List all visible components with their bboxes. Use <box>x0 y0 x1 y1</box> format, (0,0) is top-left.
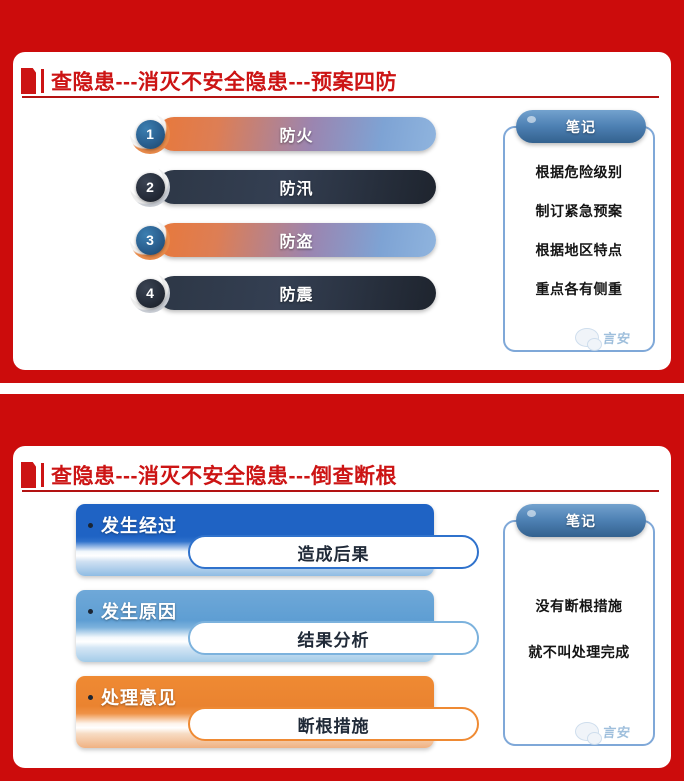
bar-body[interactable]: 防汛 <box>157 170 436 204</box>
group-subbox-label: 造成后果 <box>298 540 370 565</box>
bar-number-badge: 3 <box>130 220 170 260</box>
list-item[interactable]: 发生经过 造成后果 <box>76 504 481 582</box>
title-underline <box>22 490 659 492</box>
wechat-watermark: 言安 <box>575 718 649 744</box>
title-flag-icon <box>21 68 36 94</box>
bar-body[interactable]: 防震 <box>157 276 436 310</box>
page-title: 查隐患---消灭不安全隐患---预案四防 <box>51 66 397 96</box>
title-divider-icon <box>41 69 44 93</box>
notes-body: 没有断根措施 就不叫处理完成 <box>503 596 655 688</box>
bar-number: 3 <box>136 226 165 255</box>
bar-number: 4 <box>136 279 165 308</box>
group-heading: 处理意见 <box>88 684 177 710</box>
list-item[interactable]: 防盗 3 <box>121 220 436 260</box>
slide-1-top-banner <box>0 0 684 52</box>
list-item[interactable]: 处理意见 断根措施 <box>76 676 481 754</box>
watermark-label: 言安 <box>602 328 633 347</box>
notes-title-pill: 笔记 <box>516 504 646 537</box>
process-group-list: 发生经过 造成后果 发生原因 结果分析 <box>76 504 481 762</box>
slide-1-card: 查隐患---消灭不安全隐患---预案四防 防火 1 防汛 <box>13 52 671 370</box>
chat-bubble-icon <box>575 722 599 741</box>
group-subbox-label: 结果分析 <box>298 626 370 651</box>
notes-line: 制订紧急预案 <box>536 201 623 221</box>
slide-2: 查隐患---消灭不安全隐患---倒查断根 发生经过 造成后果 <box>0 394 684 781</box>
group-heading-label: 处理意见 <box>101 684 177 710</box>
title-underline <box>22 96 659 98</box>
chat-bubble-icon <box>575 328 599 347</box>
bar-number-badge: 4 <box>130 273 170 313</box>
list-item[interactable]: 防震 4 <box>121 273 436 313</box>
numbered-bar-list: 防火 1 防汛 2 防盗 <box>121 114 436 326</box>
bar-body[interactable]: 防盗 <box>157 223 436 257</box>
group-heading-label: 发生经过 <box>101 512 177 538</box>
notes-title-pill: 笔记 <box>516 110 646 143</box>
bullet-icon <box>88 523 93 528</box>
notes-line: 重点各有侧重 <box>536 279 623 299</box>
bar-number-badge: 1 <box>130 114 170 154</box>
page-title: 查隐患---消灭不安全隐患---倒查断根 <box>51 460 397 490</box>
slide-separator <box>0 383 684 394</box>
slide-deck: 查隐患---消灭不安全隐患---预案四防 防火 1 防汛 <box>0 0 684 781</box>
list-item[interactable]: 发生原因 结果分析 <box>76 590 481 668</box>
bar-body[interactable]: 防火 <box>157 117 436 151</box>
wechat-watermark: 言安 <box>575 324 649 350</box>
bar-number-badge: 2 <box>130 167 170 207</box>
notes-line: 没有断根措施 <box>536 596 623 616</box>
notes-line: 根据危险级别 <box>536 162 623 182</box>
bar-number: 1 <box>136 120 165 149</box>
group-subbox[interactable]: 断根措施 <box>188 707 479 741</box>
notes-panel: 笔记 根据危险级别 制订紧急预案 根据地区特点 重点各有侧重 言安 <box>503 110 655 352</box>
bullet-icon <box>88 695 93 700</box>
slide-1-title-row: 查隐患---消灭不安全隐患---预案四防 <box>21 64 661 98</box>
list-item[interactable]: 防火 1 <box>121 114 436 154</box>
slide-2-card: 查隐患---消灭不安全隐患---倒查断根 发生经过 造成后果 <box>13 446 671 768</box>
notes-panel: 笔记 没有断根措施 就不叫处理完成 言安 <box>503 504 655 746</box>
notes-title: 笔记 <box>566 117 596 137</box>
notes-line: 根据地区特点 <box>536 240 623 260</box>
notes-title: 笔记 <box>566 511 596 531</box>
list-item[interactable]: 防汛 2 <box>121 167 436 207</box>
bullet-icon <box>88 609 93 614</box>
slide-2-title-row: 查隐患---消灭不安全隐患---倒查断根 <box>21 458 661 492</box>
slide-1: 查隐患---消灭不安全隐患---预案四防 防火 1 防汛 <box>0 0 684 383</box>
notes-line: 就不叫处理完成 <box>528 642 630 662</box>
watermark-label: 言安 <box>602 722 633 741</box>
group-heading-label: 发生原因 <box>101 598 177 624</box>
title-divider-icon <box>41 463 44 487</box>
bar-label: 防汛 <box>279 175 313 199</box>
group-subbox[interactable]: 结果分析 <box>188 621 479 655</box>
group-subbox[interactable]: 造成后果 <box>188 535 479 569</box>
group-heading: 发生经过 <box>88 512 177 538</box>
title-flag-icon <box>21 462 36 488</box>
bar-label: 防火 <box>279 122 313 146</box>
group-subbox-label: 断根措施 <box>298 712 370 737</box>
bar-label: 防震 <box>279 281 313 305</box>
slide-2-top-banner <box>0 394 684 446</box>
bar-number: 2 <box>136 173 165 202</box>
bar-label: 防盗 <box>279 228 313 252</box>
group-heading: 发生原因 <box>88 598 177 624</box>
notes-body: 根据危险级别 制订紧急预案 根据地区特点 重点各有侧重 <box>503 162 655 318</box>
